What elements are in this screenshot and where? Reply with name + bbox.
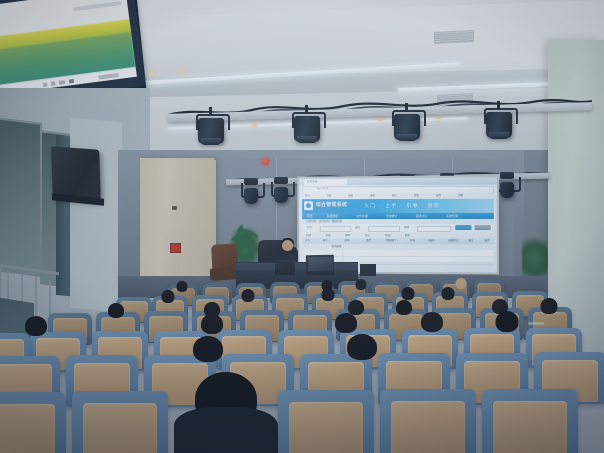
attendee: [536, 298, 562, 316]
attendee: [20, 316, 52, 338]
auditorium-seat[interactable]: [482, 389, 578, 453]
tray-icon[interactable]: [59, 80, 65, 85]
auditorium-seat[interactable]: [380, 389, 476, 453]
column-header[interactable]: 创建时间: [448, 239, 458, 242]
attendee: [186, 336, 230, 364]
par-can-light: [392, 108, 422, 142]
attendee: [392, 300, 416, 316]
column-header[interactable]: 创建人: [428, 239, 436, 242]
bookmark-item[interactable]: 设置: [436, 194, 441, 197]
auditorium-photo: 业务系统 http://10.8. 首页 文档 系统 报表 统计 管理 设置 帮…: [0, 0, 604, 453]
filter-input[interactable]: [320, 225, 352, 231]
filter-input[interactable]: [417, 226, 451, 232]
nav-item[interactable]: 首页: [307, 214, 313, 218]
downlight: [178, 70, 183, 73]
laptop[interactable]: [275, 260, 295, 275]
toolbar-button[interactable]: 刷新: [405, 234, 410, 237]
toolbar-button[interactable]: 修改: [326, 234, 331, 237]
column-header[interactable]: 备注: [468, 240, 473, 243]
downlight: [252, 124, 257, 127]
attendee: [158, 290, 178, 304]
monitor[interactable]: [360, 264, 376, 276]
column-header[interactable]: 类型: [366, 239, 371, 242]
column-header[interactable]: 操作: [485, 240, 490, 243]
eyeglasses: [528, 322, 544, 325]
tray-icon[interactable]: [69, 79, 74, 84]
attendee: [238, 289, 258, 303]
downlight: [150, 72, 155, 75]
toolbar-button[interactable]: 新增: [306, 234, 311, 237]
red-emergency-sign[interactable]: [170, 243, 181, 253]
bookmark-item[interactable]: 帮助: [458, 194, 463, 197]
taskbar-clock: [98, 73, 118, 80]
nav-item[interactable]: 查询统计: [386, 214, 398, 218]
nav-item[interactable]: 基础数据: [327, 214, 338, 218]
column-header[interactable]: 名称: [344, 239, 349, 242]
table-cell: 暂无数据: [332, 245, 342, 248]
moving-head-light: [270, 177, 292, 205]
nav-item[interactable]: 系统管理: [446, 214, 458, 218]
downlight: [378, 118, 383, 121]
filter-input[interactable]: [368, 225, 400, 231]
moving-head-light: [240, 178, 262, 206]
filter-panel: 名称 编号 日期: [302, 224, 494, 233]
par-can-light: [196, 112, 226, 146]
attendee: [438, 287, 458, 301]
tray-icon[interactable]: [43, 82, 47, 86]
bookmark-item[interactable]: 文档: [327, 194, 332, 197]
app-subtitle: 入门 · 上手 · 引导 · 进阶: [364, 202, 440, 208]
filter-label: 编号: [355, 226, 360, 229]
par-can-light: [292, 110, 322, 144]
column-header[interactable]: 所属部门: [386, 239, 396, 242]
hvac-vent: [434, 30, 474, 44]
moving-head-light: [496, 172, 518, 200]
nav-item[interactable]: 报表中心: [416, 214, 428, 218]
toolbar-button[interactable]: 删除: [345, 234, 350, 237]
browser-tab-label: 业务系统: [307, 180, 318, 184]
auditorium-seat[interactable]: [72, 391, 168, 453]
attendee: [352, 279, 369, 291]
column-header[interactable]: 编号: [323, 239, 328, 242]
wall-fixture: [172, 206, 177, 210]
breadcrumb: 当前位置：业务办理 > 数据列表: [306, 220, 342, 223]
browser-url-text: http://10.8.: [317, 187, 329, 191]
attendee: [340, 334, 384, 362]
attendee: [104, 303, 128, 319]
attendee: [196, 314, 228, 336]
downlight: [436, 116, 441, 119]
auditorium-seat[interactable]: [278, 390, 374, 453]
laptop[interactable]: [306, 255, 334, 275]
nav-item[interactable]: 业务办理: [356, 214, 367, 218]
app-title: 综合管理系统: [316, 202, 347, 209]
window: [0, 117, 42, 277]
filter-label: 名称: [307, 226, 312, 229]
bookmark-item[interactable]: 系统: [348, 194, 353, 197]
toolbar-button[interactable]: 导出: [385, 234, 390, 237]
toolbar-button[interactable]: 导入: [365, 234, 370, 237]
reset-button[interactable]: [475, 225, 491, 230]
bookmark-item[interactable]: 管理: [414, 194, 419, 197]
laptop-screen: [307, 256, 332, 271]
tray-icon[interactable]: [51, 81, 55, 85]
attendee: [330, 313, 362, 335]
auditorium-seat[interactable]: [0, 392, 66, 453]
attendee: [416, 312, 448, 334]
bookmark-item[interactable]: 统计: [392, 194, 397, 197]
par-can-light: [484, 106, 514, 140]
attendee: [490, 311, 524, 335]
search-button[interactable]: [455, 225, 471, 230]
attendee: [174, 372, 278, 453]
app-logo-icon: [304, 201, 313, 210]
wall-panel: [70, 118, 122, 313]
attendee: [398, 287, 418, 301]
filter-label: 日期: [404, 226, 409, 229]
presenter-head: [282, 240, 293, 251]
column-header[interactable]: 序号: [305, 239, 310, 242]
attendee: [318, 288, 338, 302]
potted-plant: [522, 230, 548, 278]
ceiling-monitor-screen: [0, 0, 137, 95]
bookmark-item[interactable]: 报表: [370, 194, 375, 197]
red-indicator-light: [262, 158, 269, 165]
bookmark-item[interactable]: 首页: [305, 194, 310, 197]
column-header[interactable]: 状态: [410, 239, 415, 242]
